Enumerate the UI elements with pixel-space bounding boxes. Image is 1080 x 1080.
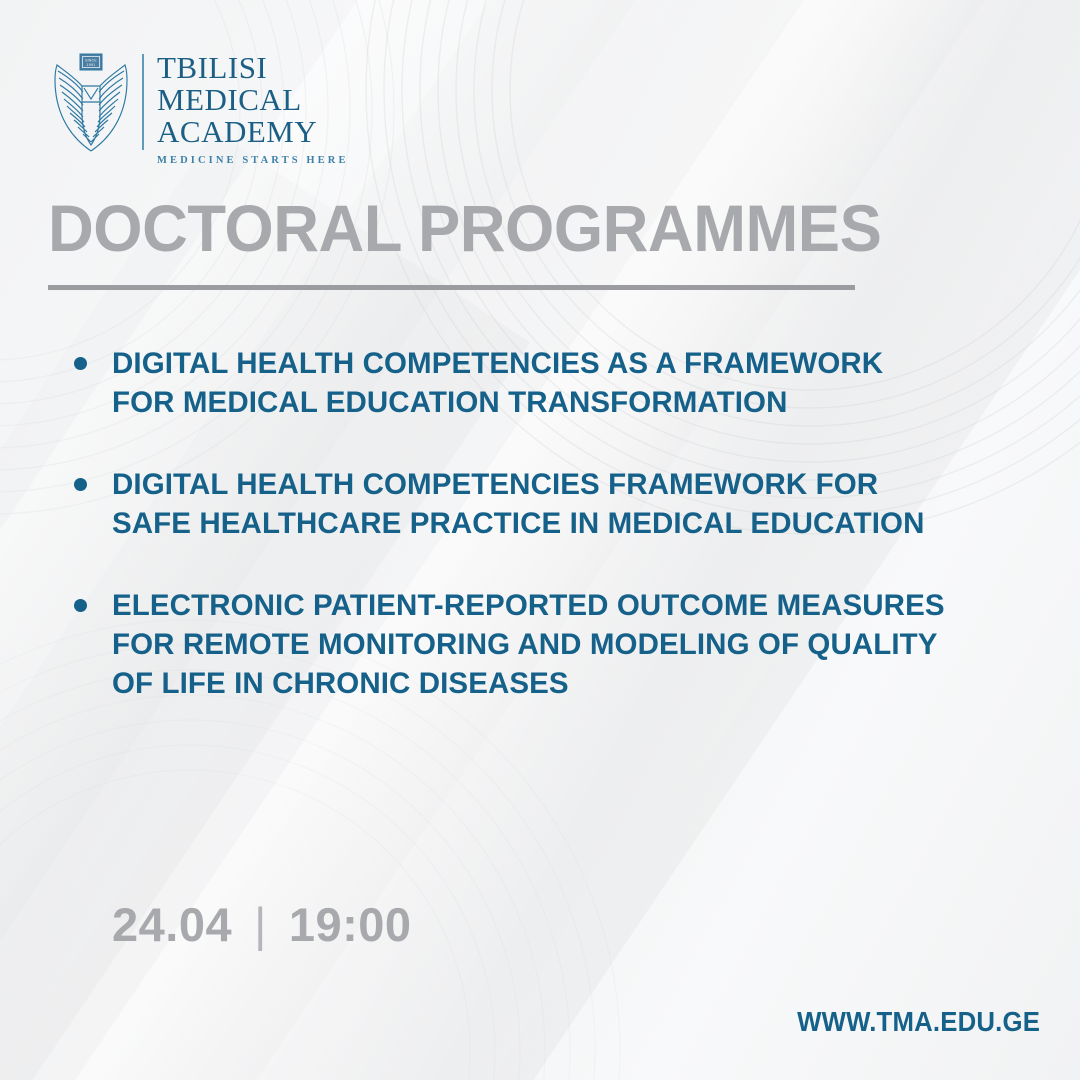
brand-logo[interactable]: SINCE 1991 TBILISI MEDICAL ACADEMY MEDIC… [52,50,349,166]
programme-title: DIGITAL HEALTH COMPETENCIES AS A FRAMEWO… [112,344,952,422]
website-url[interactable]: WWW.TMA.EDU.GE [797,1006,1040,1038]
logo-wordmark: TBILISI MEDICAL ACADEMY MEDICINE STARTS … [157,50,349,166]
bullet-dot-icon [74,478,87,491]
logo-tagline: MEDICINE STARTS HERE [157,155,349,166]
programme-title: DIGITAL HEALTH COMPETENCIES FRAMEWORK FO… [112,465,952,543]
svg-text:1991: 1991 [86,63,95,67]
logo-line-1: TBILISI [157,52,349,84]
programme-title: ELECTRONIC PATIENT-REPORTED OUTCOME MEAS… [112,586,952,703]
event-datetime: 24.04 | 19:00 [112,897,412,952]
logo-line-3: ACADEMY [157,116,349,148]
svg-text:SINCE: SINCE [85,58,97,62]
datetime-separator: | [254,897,267,952]
winged-shield-emblem-icon: SINCE 1991 [52,50,130,154]
bullet-dot-icon [74,357,87,370]
bullet-dot-icon [74,599,87,612]
page-title: DOCTORAL PROGRAMMES [48,190,881,266]
programme-list: DIGITAL HEALTH COMPETENCIES AS A FRAMEWO… [74,344,1014,746]
poster-canvas: SINCE 1991 TBILISI MEDICAL ACADEMY MEDIC… [0,0,1080,1080]
list-item: ELECTRONIC PATIENT-REPORTED OUTCOME MEAS… [74,586,1014,703]
event-time: 19:00 [289,897,412,952]
list-item: DIGITAL HEALTH COMPETENCIES AS A FRAMEWO… [74,344,1014,422]
crest-badge-icon: SINCE 1991 [80,54,102,70]
title-divider-rule [48,285,855,290]
logo-line-2: MEDICAL [157,84,349,116]
logo-divider [142,54,144,150]
list-item: DIGITAL HEALTH COMPETENCIES FRAMEWORK FO… [74,465,1014,543]
event-date: 24.04 [112,897,232,952]
